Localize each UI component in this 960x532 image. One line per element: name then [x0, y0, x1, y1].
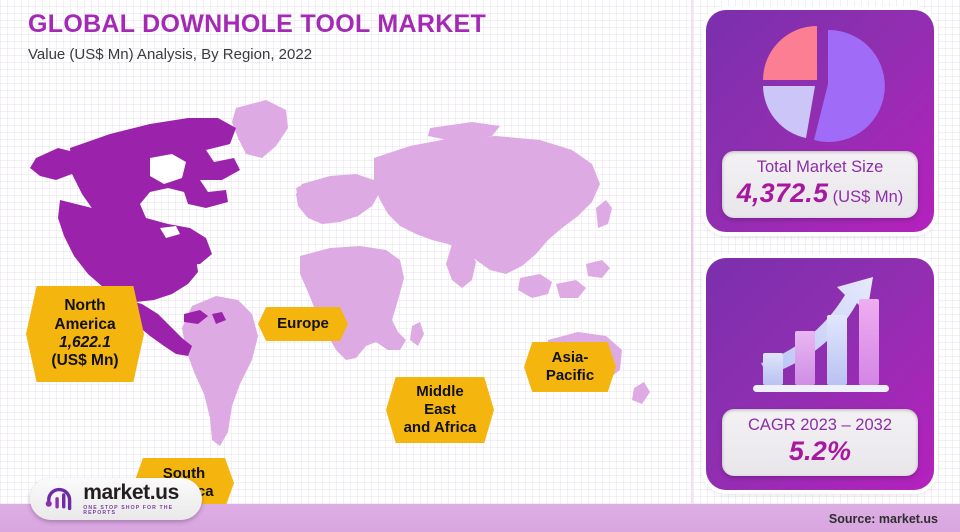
region-label-line1: Asia- — [546, 349, 594, 367]
cagr-value: 5.2% — [789, 436, 851, 466]
logo-tagline: ONE STOP SHOP FOR THE REPORTS — [83, 506, 202, 516]
cagr-label: CAGR 2023 – 2032 — [726, 416, 914, 436]
region-badge-middle-east-and-africa[interactable]: Middle East and Africa — [386, 377, 494, 443]
page-subtitle: Value (US$ Mn) Analysis, By Region, 2022 — [28, 46, 486, 64]
market-size-stat: Total Market Size 4,372.5 (US$ Mn) — [722, 151, 918, 218]
region-badge-asia-pacific[interactable]: Asia- Pacific — [524, 342, 616, 392]
card-cagr: CAGR 2023 – 2032 5.2% — [706, 258, 934, 490]
region-badge-north-america[interactable]: North America 1,622.1 (US$ Mn) — [26, 286, 144, 382]
region-label-line3: and Africa — [404, 419, 477, 437]
market-size-label: Total Market Size — [726, 158, 914, 178]
market-us-logo[interactable]: market.us ONE STOP SHOP FOR THE REPORTS — [30, 478, 202, 520]
region-badge-europe[interactable]: Europe — [258, 307, 348, 341]
region-label-line1: Middle — [404, 383, 477, 401]
source-attribution: Source: market.us — [829, 512, 938, 526]
market-size-value-row: 4,372.5 (US$ Mn) — [726, 179, 914, 209]
region-label-line2: America — [51, 316, 118, 334]
logo-name: market.us — [83, 482, 202, 503]
region-value: 1,622.1 — [51, 334, 118, 352]
region-label-line1: Europe — [277, 315, 329, 333]
card-total-market-size: Total Market Size 4,372.5 (US$ Mn) — [706, 10, 934, 232]
cagr-stat: CAGR 2023 – 2032 5.2% — [722, 409, 918, 476]
infographic-root: GLOBAL DOWNHOLE TOOL MARKET Value (US$ M… — [0, 0, 960, 532]
market-us-logo-icon — [44, 486, 76, 512]
region-label-line2: East — [404, 401, 477, 419]
market-size-value: 4,372.5 — [737, 178, 828, 208]
pie-chart-icon — [706, 10, 934, 151]
header: GLOBAL DOWNHOLE TOOL MARKET Value (US$ M… — [28, 10, 486, 64]
region-label-line1: North — [51, 297, 118, 315]
market-us-logo-text: market.us ONE STOP SHOP FOR THE REPORTS — [83, 482, 202, 516]
panel-divider — [691, 0, 693, 505]
page-title: GLOBAL DOWNHOLE TOOL MARKET — [28, 10, 486, 39]
cagr-value-row: 5.2% — [726, 437, 914, 467]
region-unit: (US$ Mn) — [51, 352, 118, 370]
market-size-unit: (US$ Mn) — [833, 188, 904, 206]
world-map: North America 1,622.1 (US$ Mn) Europe Mi… — [0, 88, 690, 488]
region-label-line2: Pacific — [546, 367, 594, 385]
bar-chart-growth-icon — [706, 258, 934, 409]
